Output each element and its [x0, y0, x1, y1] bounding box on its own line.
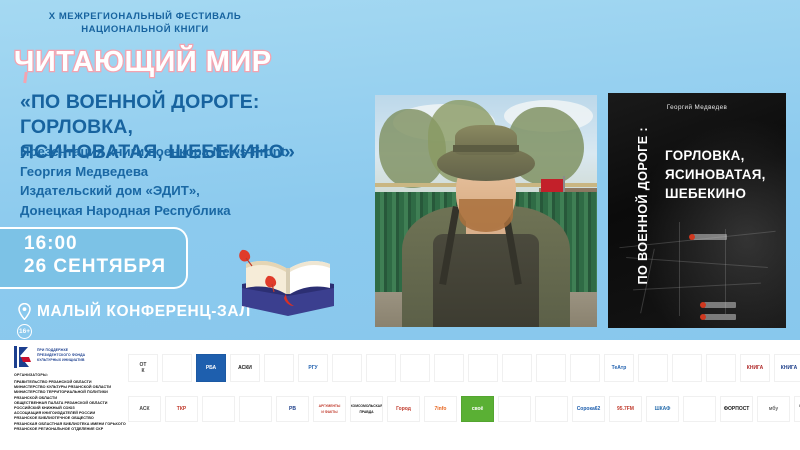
photo-person-beard	[459, 199, 512, 231]
festival-logo-text: ЧИТАЮЩИЙ МИР	[14, 46, 272, 78]
partner-logo-row-1: ОТ КРБААСКИРГУТеАтрКНИГАКНИГАКНИЖНАЯ инд…	[128, 354, 800, 382]
partner-logo: РГУ	[298, 354, 328, 382]
partner-logo	[706, 354, 736, 382]
open-book-illustration	[228, 228, 348, 328]
partner-logo: ШКАФ	[646, 396, 679, 422]
partner-logo: своё	[461, 396, 494, 422]
partner-logo	[570, 354, 600, 382]
partner-logo	[434, 354, 464, 382]
book-cover-title-line1: ГОРЛОВКА,	[665, 146, 780, 165]
book-cover-title-line2: ЯСИНОВАТАЯ,	[665, 165, 780, 184]
event-date: 26 СЕНТЯБРЯ	[24, 256, 166, 278]
footer-partners-bar: ПРИ ПОДДЕРЖКЕ ПРЕЗИДЕНТСКОГО ФОНДА КУЛЬТ…	[0, 340, 800, 450]
partner-logo: ОТ К	[128, 354, 158, 382]
partner-logo	[536, 354, 566, 382]
partner-logo	[498, 396, 531, 422]
partner-logo	[502, 354, 532, 382]
pf-line3: КУЛЬТУРНЫХ ИНИЦИАТИВ	[37, 358, 103, 363]
event-subtitle: Презентация книги военкора News-Front Ге…	[20, 142, 370, 220]
event-subtitle-line4: Донецкая Народная Республика	[20, 201, 370, 221]
book-cover-author: Георгий Медведев	[608, 104, 786, 111]
partner-logo: ТеАтр	[604, 354, 634, 382]
author-photo	[375, 95, 597, 327]
presidential-fund-logo: ПРИ ПОДДЕРЖКЕ ПРЕЗИДЕНТСКОГО ФОНДА КУЛЬТ…	[14, 346, 104, 368]
map-marker-gorlovka	[704, 302, 736, 308]
partner-logo: ТКР	[165, 396, 198, 422]
partner-logo: АРГУМЕНТЫ И ФАКТЫ	[313, 396, 346, 422]
event-subtitle-line1: Презентация книги военкора News-Front	[20, 142, 370, 162]
partner-logo	[535, 396, 568, 422]
partner-logo: АСКИ	[230, 354, 260, 382]
partner-logo	[239, 396, 272, 422]
presidential-fund-text: ПРИ ПОДДЕРЖКЕ ПРЕЗИДЕНТСКОГО ФОНДА КУЛЬТ…	[37, 348, 103, 363]
partner-logo: КНИГА	[740, 354, 770, 382]
book-cover-title-line3: ШЕБЕКИНО	[665, 184, 780, 203]
partner-logo	[683, 396, 716, 422]
partner-logo	[162, 354, 192, 382]
event-subtitle-line3: Издательский дом «ЭДИТ»,	[20, 181, 370, 201]
partner-logo: ФОРПОСТ	[720, 396, 753, 422]
map-marker-yasinovataya	[704, 314, 736, 320]
book-cover-image: Георгий Медведев ПО ВОЕННОЙ ДОРОГЕ : ГОР…	[608, 93, 786, 328]
partner-logo: 95.7FM	[609, 396, 642, 422]
presidential-fund-mark-icon	[14, 346, 32, 368]
festival-kicker: X МЕЖРЕГИОНАЛЬНЫЙ ФЕСТИВАЛЬ НАЦИОНАЛЬНОЙ…	[0, 10, 290, 36]
organizer-item: РЯЗАНСКОЕ РЕГИОНАЛЬНОЕ ОТДЕЛЕНИЕ СКР	[14, 427, 149, 432]
event-poster: X МЕЖРЕГИОНАЛЬНЫЙ ФЕСТИВАЛЬ НАЦИОНАЛЬНОЙ…	[0, 0, 800, 450]
partner-logo	[400, 354, 430, 382]
event-time: 16:00	[24, 233, 78, 255]
festival-logo: ЧИТАЮЩИЙ МИР	[14, 45, 264, 79]
festival-kicker-line2: НАЦИОНАЛЬНОЙ КНИГИ	[0, 23, 290, 36]
festival-kicker-line1: X МЕЖРЕГИОНАЛЬНЫЙ ФЕСТИВАЛЬ	[0, 10, 290, 23]
partner-logo	[202, 396, 235, 422]
partner-logo: Сорока62	[572, 396, 605, 422]
partner-logo: 7info	[424, 396, 457, 422]
partner-logo: Город	[387, 396, 420, 422]
partner-logo: КНИГА	[774, 354, 800, 382]
book-cover-vertical-title: ПО ВОЕННОЙ ДОРОГЕ :	[636, 127, 650, 285]
partner-logo: ВОЛОНТЁРЫ НАУКИ	[794, 396, 800, 422]
partner-logo	[672, 354, 702, 382]
partner-logo	[264, 354, 294, 382]
partner-logo: РБА	[196, 354, 226, 382]
partner-logo: КОМСОМОЛЬСКАЯ ПРАВДА	[350, 396, 383, 422]
book-cover-title: ГОРЛОВКА, ЯСИНОВАТАЯ, ШЕБЕКИНО	[665, 146, 780, 203]
partner-logo: АСК	[128, 396, 161, 422]
event-venue: МАЛЫЙ КОНФЕРЕНЦ-ЗАЛ	[37, 303, 251, 321]
partner-logo	[638, 354, 668, 382]
partner-logo	[366, 354, 396, 382]
book-cover-map-background	[608, 93, 786, 328]
event-subtitle-line2: Георгия Медведева	[20, 162, 370, 182]
location-pin-icon	[18, 303, 31, 320]
organizers-heading: ОРГАНИЗАТОРЫ:	[14, 373, 48, 377]
map-marker-shebekino	[693, 234, 727, 240]
event-title-line1: «ПО ВОЕННОЙ ДОРОГЕ: ГОРЛОВКА,	[20, 90, 370, 140]
partner-logo: мбу	[757, 396, 790, 422]
partner-logo: РВ	[276, 396, 309, 422]
partner-logo-row-2: АСКТКРРВАРГУМЕНТЫ И ФАКТЫКОМСОМОЛЬСКАЯ П…	[128, 396, 800, 422]
partner-logo	[332, 354, 362, 382]
photo-boonie-hat-band	[453, 145, 520, 152]
partner-logo	[468, 354, 498, 382]
age-rating-badge: 16+	[17, 324, 32, 339]
